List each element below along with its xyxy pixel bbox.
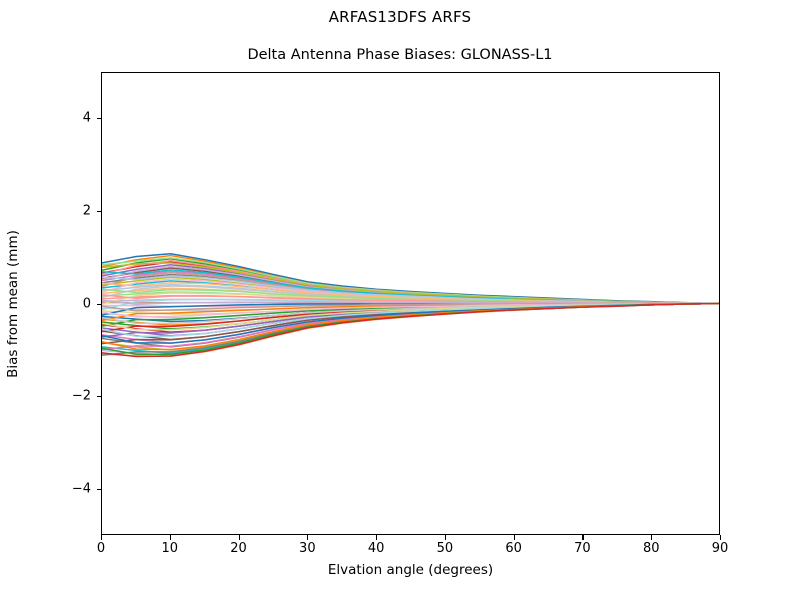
x-tick-mark	[170, 535, 171, 540]
y-tick-label: 2	[53, 203, 91, 218]
y-tick-label: −2	[53, 389, 91, 404]
x-tick-label: 50	[423, 541, 467, 556]
y-axis-label-text: Bias from mean (mm)	[5, 230, 21, 378]
chart-title: Delta Antenna Phase Biases: GLONASS-L1	[0, 47, 800, 63]
x-tick-mark	[445, 535, 446, 540]
x-tick-mark	[239, 535, 240, 540]
x-tick-mark	[307, 535, 308, 540]
x-tick-mark	[514, 535, 515, 540]
y-axis-ticks: −4−2024	[55, 72, 101, 535]
x-tick-mark	[101, 535, 102, 540]
x-tick-mark	[582, 535, 583, 540]
y-tick-label: 4	[53, 111, 91, 126]
x-tick-label: 10	[148, 541, 192, 556]
x-tick-label: 80	[629, 541, 673, 556]
figure-canvas: ARFAS13DFS ARFS Delta Antenna Phase Bias…	[0, 0, 800, 600]
x-tick-label: 0	[79, 541, 123, 556]
x-tick-label: 70	[560, 541, 604, 556]
y-tick-label: −4	[53, 481, 91, 496]
data-lines	[102, 73, 719, 534]
x-tick-label: 30	[285, 541, 329, 556]
y-tick-label: 0	[53, 296, 91, 311]
x-tick-mark	[720, 535, 721, 540]
x-tick-label: 60	[492, 541, 536, 556]
plot-area	[101, 72, 720, 535]
x-tick-label: 90	[698, 541, 742, 556]
x-axis-ticks: 0102030405060708090	[101, 535, 720, 565]
x-axis-label: Elvation angle (degrees)	[101, 562, 720, 578]
x-tick-mark	[376, 535, 377, 540]
y-axis-label: Bias from mean (mm)	[0, 72, 26, 535]
x-tick-label: 20	[217, 541, 261, 556]
x-tick-mark	[651, 535, 652, 540]
figure-suptitle: ARFAS13DFS ARFS	[0, 8, 800, 26]
x-tick-label: 40	[354, 541, 398, 556]
